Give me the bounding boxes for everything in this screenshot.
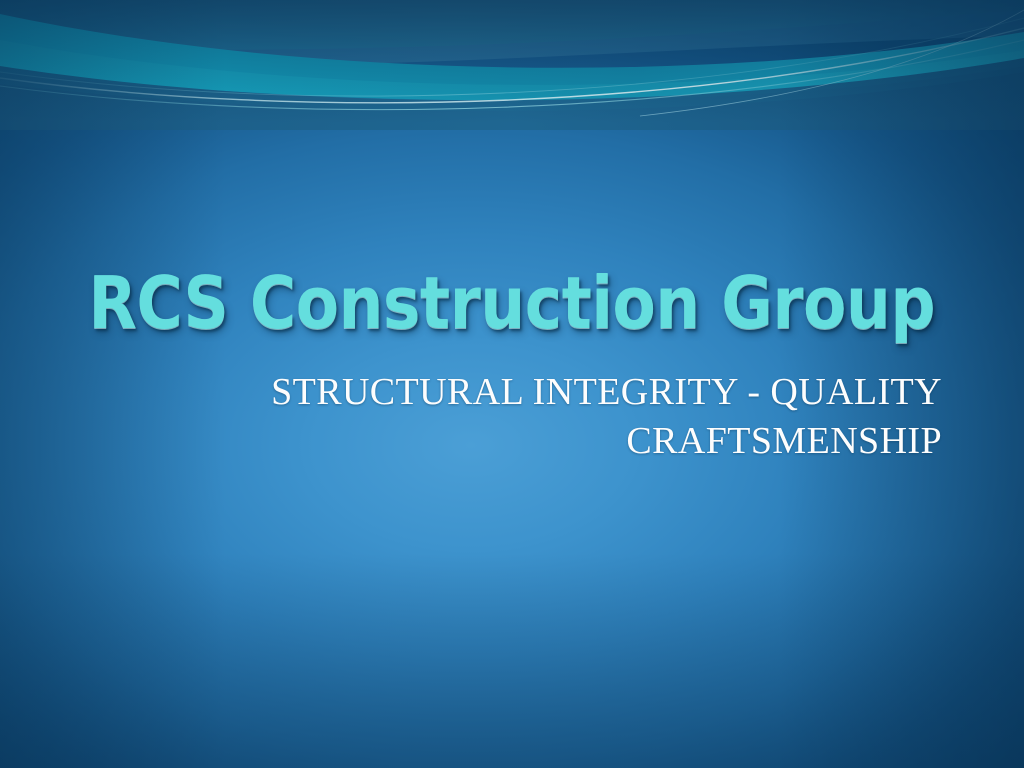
slide-subtitle: STRUCTURAL INTEGRITY - QUALITY CRAFTSMEN… xyxy=(84,368,942,466)
presentation-slide: RCS Construction Group STRUCTURAL INTEGR… xyxy=(0,0,1024,768)
subtitle-placeholder[interactable]: STRUCTURAL INTEGRITY - QUALITY CRAFTSMEN… xyxy=(84,368,942,466)
